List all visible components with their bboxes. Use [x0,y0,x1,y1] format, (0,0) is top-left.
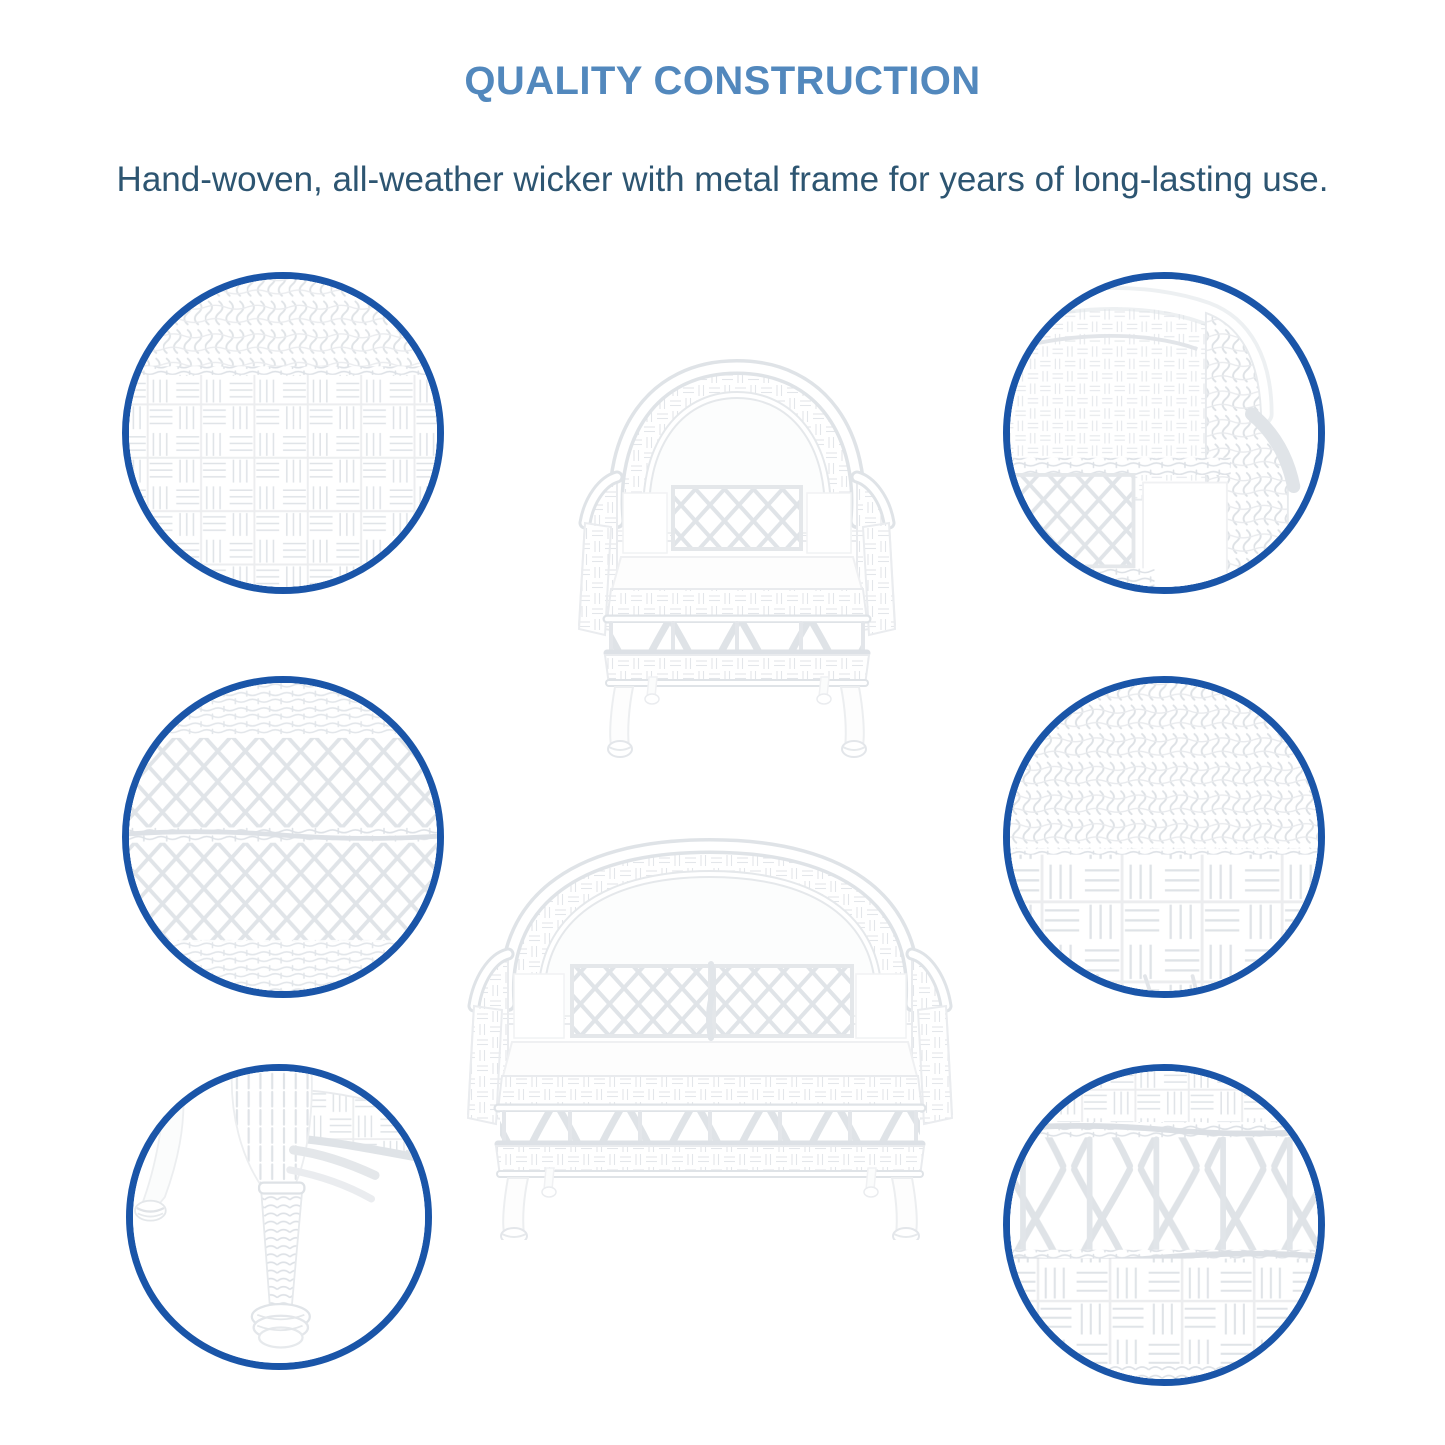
product-wicker-loveseat [450,828,970,1240]
callout-chair-back-arm [1003,272,1325,594]
page-subtitle: Hand-woven, all-weather wicker with meta… [0,158,1445,202]
callout-rib-weave [1003,676,1325,998]
page-title: QUALITY CONSTRUCTION [0,58,1445,104]
x-weave-texture-image [1003,1064,1325,1386]
callout-leg-detail [126,1064,432,1370]
product-wicker-armchair [565,345,910,760]
leg-detail-image [126,1064,432,1370]
callout-diamond-lattice [122,676,444,998]
callout-basketweave-texture [122,272,444,594]
callout-x-weave [1003,1064,1325,1386]
rib-weave-texture-image [1003,676,1325,998]
diamond-lattice-texture-image [122,676,444,998]
basketweave-texture-image [122,272,444,594]
chair-corner-texture-image [1003,272,1325,594]
infographic-page: QUALITY CONSTRUCTION Hand-woven, all-wea… [0,0,1445,1445]
